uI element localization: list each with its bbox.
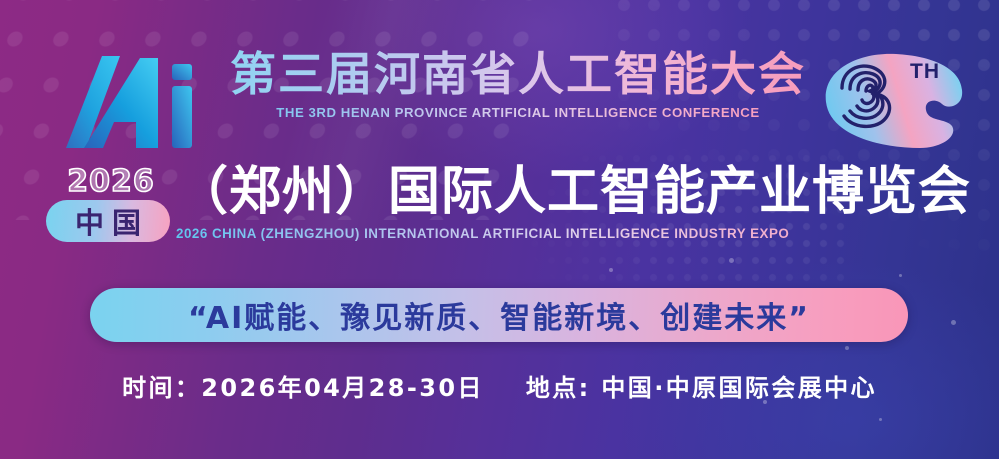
conference-title-block: 第三届河南省人工智能大会 THE 3RD HENAN PROVINCE ARTI… [228,46,808,120]
ai-logo-icon [62,52,202,152]
expo-title-cn: （郑州）国际人工智能产业博览会 [176,160,976,224]
conference-title-row: 第三届河南省人工智能大会 THE 3RD HENAN PROVINCE ARTI… [0,46,999,156]
sparkle-dots [579,250,999,459]
slogan-text: “AI赋能、豫见新质、智能新境、创建未来” [188,293,810,337]
event-info-row: 时间：2026年04月28-30日 地点: 中国·中原国际会展中心 [0,368,999,403]
expo-title-row: 2026 中国 （郑州）国际人工智能产业博览会 2026 CHINA (ZHEN… [0,160,999,268]
slogan-pill: “AI赋能、豫见新质、智能新境、创建未来” [90,288,908,342]
edition-badge-suffix: TH [910,60,940,84]
edition-badge: TH [812,44,982,156]
country-pill: 中国 [46,200,170,242]
conference-banner: 第三届河南省人工智能大会 THE 3RD HENAN PROVINCE ARTI… [0,0,999,459]
expo-title-en: 2026 CHINA (ZHENGZHOU) INTERNATIONAL ART… [176,226,976,241]
conference-title-en: THE 3RD HENAN PROVINCE ARTIFICIAL INTELL… [228,105,808,120]
year-label: 2026 [52,164,170,199]
year-country-badge: 2026 中国 [44,164,172,252]
country-label: 中国 [67,200,149,242]
event-venue: 地点: 中国·中原国际会展中心 [526,368,877,403]
event-date: 时间：2026年04月28-30日 [122,368,484,403]
expo-title-block: （郑州）国际人工智能产业博览会 2026 CHINA (ZHENGZHOU) I… [176,160,976,241]
conference-title-cn: 第三届河南省人工智能大会 [228,46,808,102]
